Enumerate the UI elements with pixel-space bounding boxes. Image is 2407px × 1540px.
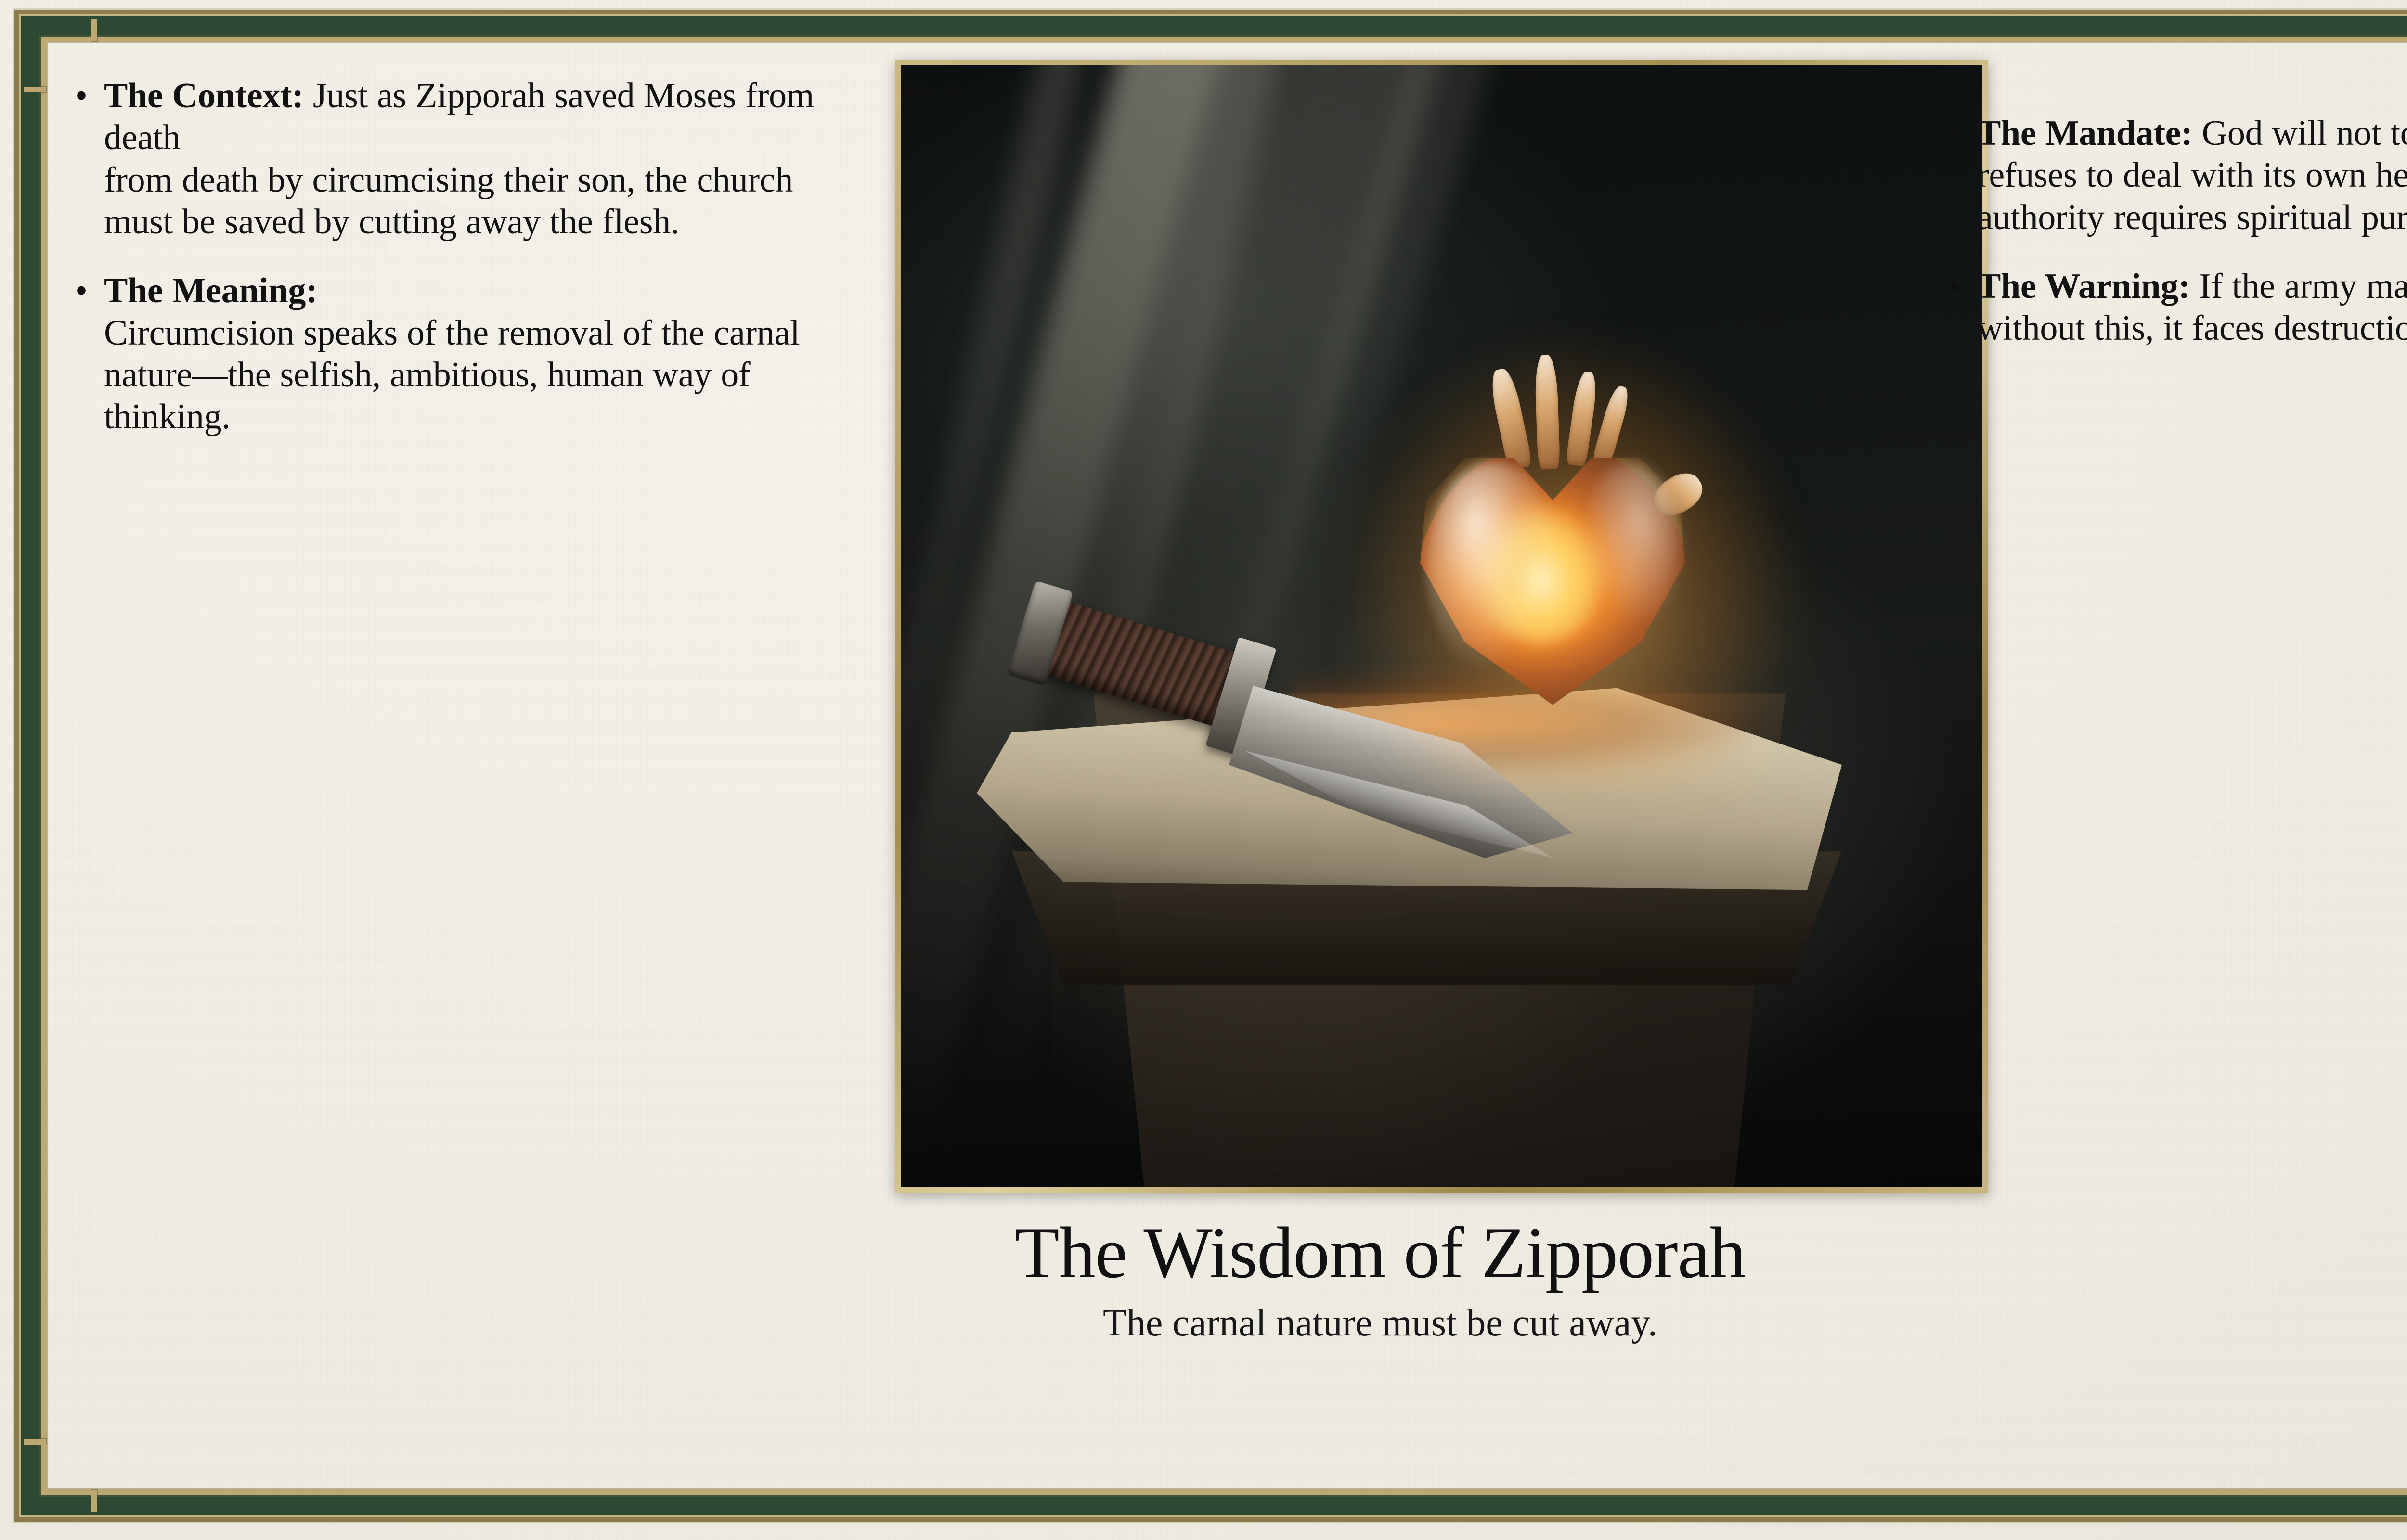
right-bullet-column: • The Mandate: God will not tolerate an … [1945,75,2407,377]
heart-highlight-right [1580,462,1679,631]
heart-vessel [1534,355,1560,470]
bullet-marker-icon: • [72,75,104,117]
slide-content: • The Context: Just as Zipporah saved Mo… [53,46,2407,1482]
bullet-marker-icon: • [1945,266,1977,308]
bullet-label: The Context: [104,76,304,115]
bullet-text-part-2: Circumcision speaks of the removal of th… [104,313,800,437]
page-subtitle: The carnal nature must be cut away. [53,1302,2407,1344]
list-item: • The Context: Just as Zipporah saved Mo… [72,75,821,243]
heart-vessel [1592,384,1632,467]
bullet-label: The Meaning: [104,270,821,312]
bullet-body: The Mandate: God will not tolerate an ar… [1977,113,2407,239]
bullet-body: The Context: Just as Zipporah saved Mose… [104,75,821,243]
list-item: • The Warning: If the army marches furth… [1945,266,2407,350]
frame-corner-tick-top-left [91,19,97,41]
bullet-text-part-2: from death by circumcising their son, th… [104,159,821,244]
frame-corner-tick-left-top [24,87,46,92]
glowing-heart-icon [1415,368,1691,705]
page-title: The Wisdom of Zipporah [53,1216,2407,1290]
frame-corner-tick-bottom-left [91,1490,97,1512]
bullet-body: The Warning: If the army marches further… [1977,266,2407,350]
bullet-marker-icon: • [72,270,104,312]
slide-canvas: • The Context: Just as Zipporah saved Mo… [0,0,2407,1540]
left-bullet-column: • The Context: Just as Zipporah saved Mo… [72,75,821,465]
bullet-body: The Meaning:Circumcision speaks of the r… [104,270,821,438]
list-item: • The Meaning:Circumcision speaks of the… [72,270,821,438]
artwork-image [901,65,1982,1187]
list-item: • The Mandate: God will not tolerate an … [1945,113,2407,239]
artwork-frame [895,60,1988,1193]
heart-vessel [1487,367,1532,471]
heart-highlight-left [1426,462,1558,671]
bullet-label: The Warning: [1977,267,2190,306]
bullet-marker-icon: • [1945,113,1977,154]
title-block: The Wisdom of Zipporah The carnal nature… [53,1216,2407,1344]
bullet-label: The Mandate: [1977,114,2193,153]
frame-corner-tick-left-bottom [24,1439,46,1445]
